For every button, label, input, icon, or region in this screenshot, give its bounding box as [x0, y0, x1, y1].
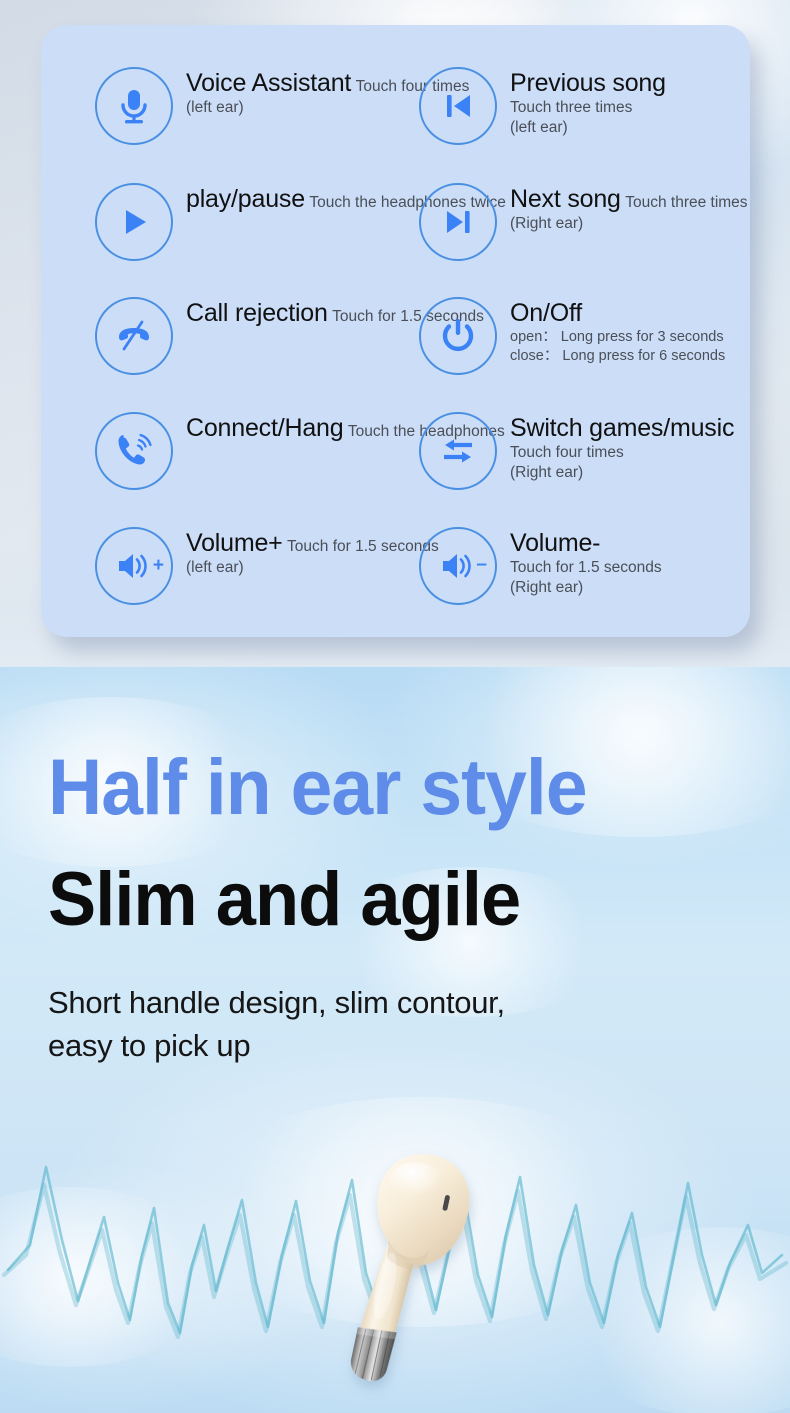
promo-headline-black: Slim and agile: [48, 862, 520, 938]
control-subtitle-line2: (Right ear): [510, 214, 583, 235]
switch-arrows-icon: [419, 412, 497, 490]
control-item-volume-down[interactable]: – Volume- Touch for 1.5 seconds (Right e…: [419, 527, 750, 605]
microphone-icon: [95, 67, 173, 145]
control-subtitle-line2: (left ear): [510, 118, 568, 139]
control-text: On/Off open： Long press for 3 seconds cl…: [497, 297, 750, 367]
volume-down-icon: –: [419, 527, 497, 605]
control-subtitle-line1: Touch for 1.5 seconds: [287, 537, 439, 558]
control-subtitle: Touch three times (left ear): [510, 99, 632, 137]
control-title: play/pause: [186, 185, 305, 213]
control-subtitle: Touch four times (Right ear): [510, 444, 624, 482]
control-subtitle-line1: Touch three times: [510, 98, 632, 119]
control-text: Volume- Touch for 1.5 seconds (Right ear…: [497, 527, 750, 599]
volume-up-superscript: +: [153, 556, 164, 575]
control-subtitle-line2: (left ear): [186, 558, 244, 579]
power-icon: [419, 297, 497, 375]
control-title: Volume-: [510, 529, 600, 557]
control-title: Connect/Hang: [186, 414, 343, 442]
play-icon: [95, 183, 173, 261]
call-answer-icon: [95, 412, 173, 490]
control-item-next-song[interactable]: Next song Touch three times (Right ear): [419, 183, 748, 261]
volume-down-superscript: –: [476, 555, 487, 574]
earbud-product-image: [327, 1140, 487, 1390]
promo-subcopy: Short handle design, slim contour, easy …: [48, 982, 505, 1068]
control-text: Previous song Touch three times (left ea…: [497, 67, 750, 139]
previous-track-icon: [419, 67, 497, 145]
promo-headline-blue: Half in ear style: [48, 747, 587, 826]
control-title: Switch games/music: [510, 414, 734, 442]
control-subtitle-line2: (left ear): [186, 98, 244, 119]
control-subtitle-line1: open： Long press for 3 seconds: [510, 328, 724, 348]
control-item-previous-song[interactable]: Previous song Touch three times (left ea…: [419, 67, 750, 145]
control-title: Voice Assistant: [186, 69, 351, 97]
control-subtitle-line1: Touch for 1.5 seconds: [510, 558, 662, 579]
control-text: Switch games/music Touch four times (Rig…: [497, 412, 750, 484]
control-subtitle: open： Long press for 3 seconds close： Lo…: [510, 329, 725, 365]
control-subtitle-line1: Touch three times: [625, 193, 747, 214]
controls-grid: Voice Assistant Touch four times (left e…: [41, 39, 750, 637]
control-subtitle-line2: (Right ear): [510, 578, 583, 599]
control-subtitle-line2: (Right ear): [510, 463, 583, 484]
touch-controls-card: Voice Assistant Touch four times (left e…: [41, 25, 750, 637]
control-title: Next song: [510, 185, 621, 213]
control-subtitle-line1: Touch four times: [510, 443, 624, 464]
control-title: Call rejection: [186, 299, 328, 327]
control-title: Volume+: [186, 529, 283, 557]
control-item-voice-assistant[interactable]: Voice Assistant Touch four times (left e…: [95, 67, 469, 145]
control-text: Volume+ Touch for 1.5 seconds (left ear): [173, 527, 439, 579]
control-subtitle-line2: close： Long press for 6 seconds: [510, 347, 725, 367]
control-text: Next song Touch three times (Right ear): [497, 183, 748, 235]
control-item-on-off[interactable]: On/Off open： Long press for 3 seconds cl…: [419, 297, 750, 375]
control-title: Previous song: [510, 69, 666, 97]
product-detail-page: Voice Assistant Touch four times (left e…: [0, 0, 790, 1413]
control-subtitle: Touch for 1.5 seconds (Right ear): [510, 559, 662, 597]
control-title: On/Off: [510, 299, 582, 327]
control-item-volume-up[interactable]: + Volume+ Touch for 1.5 seconds (left ea…: [95, 527, 439, 605]
call-reject-icon: [95, 297, 173, 375]
next-track-icon: [419, 183, 497, 261]
control-item-switch-games-music[interactable]: Switch games/music Touch four times (Rig…: [419, 412, 750, 490]
volume-up-icon: +: [95, 527, 173, 605]
